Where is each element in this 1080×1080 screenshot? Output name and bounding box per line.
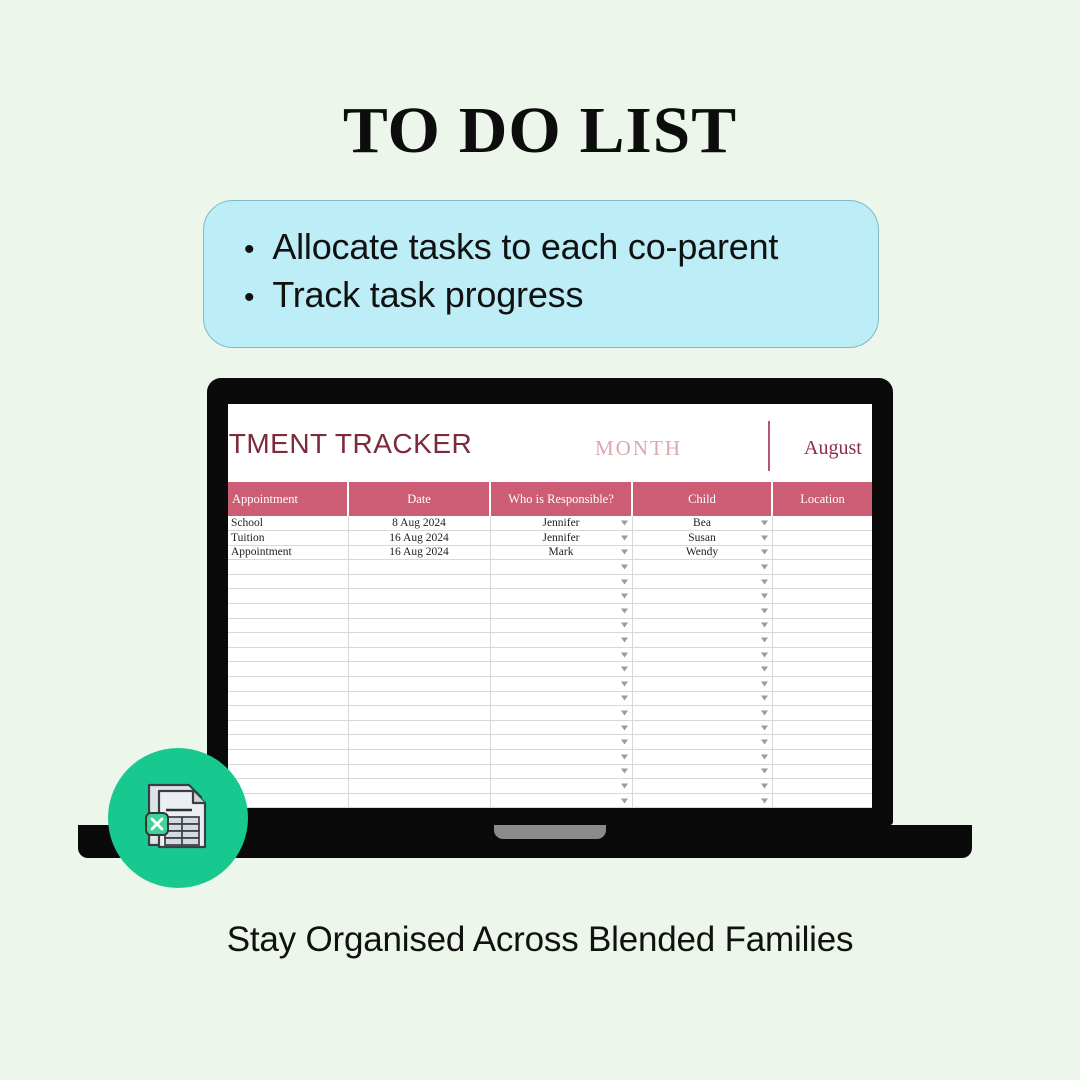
month-value[interactable]: August — [804, 437, 862, 460]
dropdown-caret-icon[interactable] — [761, 754, 768, 759]
table-row — [228, 604, 872, 619]
month-label: MONTH — [595, 436, 682, 461]
dropdown-caret-icon[interactable] — [761, 550, 768, 555]
cell-appointment[interactable] — [228, 574, 348, 589]
cell-date[interactable] — [348, 779, 490, 794]
cell-date[interactable]: 16 Aug 2024 — [348, 531, 490, 546]
cell-child[interactable]: Bea — [632, 516, 772, 531]
dropdown-caret-icon[interactable] — [621, 594, 628, 599]
cell-responsible[interactable]: Jennifer — [490, 531, 632, 546]
cell-child[interactable] — [632, 662, 772, 677]
spreadsheet-badge — [108, 748, 248, 888]
cell-child[interactable] — [632, 574, 772, 589]
dropdown-caret-icon[interactable] — [621, 638, 628, 643]
cell-appointment[interactable] — [228, 560, 348, 575]
cell-location[interactable] — [772, 793, 872, 808]
cell-appointment[interactable] — [228, 691, 348, 706]
dropdown-caret-icon[interactable] — [621, 696, 628, 701]
dropdown-caret-icon[interactable] — [621, 681, 628, 686]
cell-date[interactable] — [348, 764, 490, 779]
table-row — [228, 750, 872, 765]
cell-responsible[interactable] — [490, 750, 632, 765]
table-row — [228, 735, 872, 750]
list-item-label: Allocate tasks to each co-parent — [272, 223, 778, 271]
spreadsheet-title: NTMENT TRACKER — [228, 428, 472, 460]
cell-location[interactable] — [772, 589, 872, 604]
cell-date[interactable] — [348, 706, 490, 721]
cell-appointment[interactable] — [228, 735, 348, 750]
table-row — [228, 677, 872, 692]
spreadsheet: NTMENT TRACKER MONTH August Appointment … — [228, 404, 872, 808]
cell-responsible[interactable] — [490, 647, 632, 662]
cell-date[interactable] — [348, 720, 490, 735]
table-row — [228, 560, 872, 575]
table-row — [228, 764, 872, 779]
cell-appointment[interactable]: Appointment — [228, 545, 348, 560]
cell-responsible[interactable] — [490, 662, 632, 677]
cell-location[interactable] — [772, 574, 872, 589]
cell-date[interactable] — [348, 750, 490, 765]
dropdown-caret-icon[interactable] — [761, 696, 768, 701]
cell-date[interactable] — [348, 560, 490, 575]
bullet-icon: • — [244, 235, 254, 265]
table-row — [228, 647, 872, 662]
cell-appointment[interactable]: School — [228, 516, 348, 531]
cell-location[interactable] — [772, 706, 872, 721]
tagline: Stay Organised Across Blended Families — [0, 920, 1080, 960]
dropdown-caret-icon[interactable] — [761, 535, 768, 540]
table-header-row: Appointment Date Who is Responsible? Chi… — [228, 482, 872, 516]
dropdown-caret-icon[interactable] — [621, 754, 628, 759]
spreadsheet-header: NTMENT TRACKER MONTH August — [228, 404, 872, 482]
cell-date[interactable] — [348, 662, 490, 677]
cell-child[interactable] — [632, 750, 772, 765]
cell-date[interactable] — [348, 647, 490, 662]
cell-location[interactable] — [772, 779, 872, 794]
table-row — [228, 662, 872, 677]
column-header-responsible: Who is Responsible? — [490, 482, 632, 516]
dropdown-caret-icon[interactable] — [761, 652, 768, 657]
cell-location[interactable] — [772, 545, 872, 560]
column-header-child: Child — [632, 482, 772, 516]
cell-appointment[interactable] — [228, 764, 348, 779]
page-title: TO DO LIST — [0, 98, 1080, 164]
dropdown-caret-icon[interactable] — [621, 783, 628, 788]
cell-child[interactable] — [632, 691, 772, 706]
cell-responsible[interactable] — [490, 560, 632, 575]
cell-child[interactable] — [632, 677, 772, 692]
cell-child[interactable]: Wendy — [632, 545, 772, 560]
dropdown-caret-icon[interactable] — [621, 798, 628, 803]
feature-list: • Allocate tasks to each co-parent • Tra… — [244, 223, 878, 319]
dropdown-caret-icon[interactable] — [621, 725, 628, 730]
cell-appointment[interactable]: Tuition — [228, 531, 348, 546]
cell-location[interactable] — [772, 633, 872, 648]
dropdown-caret-icon[interactable] — [621, 579, 628, 584]
cell-child[interactable] — [632, 560, 772, 575]
cell-location[interactable] — [772, 516, 872, 531]
cell-location[interactable] — [772, 618, 872, 633]
table-body: School8 Aug 2024JenniferBeaTuition16 Aug… — [228, 516, 872, 808]
cell-child[interactable] — [632, 647, 772, 662]
feature-callout-box: • Allocate tasks to each co-parent • Tra… — [203, 200, 879, 348]
dropdown-caret-icon[interactable] — [621, 769, 628, 774]
cell-date[interactable] — [348, 589, 490, 604]
cell-location[interactable] — [772, 720, 872, 735]
cell-responsible[interactable] — [490, 677, 632, 692]
dropdown-caret-icon[interactable] — [621, 608, 628, 613]
dropdown-caret-icon[interactable] — [621, 565, 628, 570]
cell-location[interactable] — [772, 764, 872, 779]
cell-responsible[interactable] — [490, 706, 632, 721]
table-row — [228, 574, 872, 589]
table-row: School8 Aug 2024JenniferBea — [228, 516, 872, 531]
cell-responsible[interactable] — [490, 779, 632, 794]
list-item-label: Track task progress — [272, 271, 583, 319]
column-header-location: Location — [772, 482, 872, 516]
dropdown-caret-icon[interactable] — [761, 725, 768, 730]
dropdown-caret-icon[interactable] — [621, 623, 628, 628]
cell-date[interactable] — [348, 574, 490, 589]
dropdown-caret-icon[interactable] — [761, 638, 768, 643]
cell-date[interactable] — [348, 604, 490, 619]
table-row — [228, 706, 872, 721]
cell-child[interactable] — [632, 618, 772, 633]
dropdown-caret-icon[interactable] — [621, 535, 628, 540]
table-row — [228, 793, 872, 808]
dropdown-caret-icon[interactable] — [621, 711, 628, 716]
appointment-table: Appointment Date Who is Responsible? Chi… — [228, 482, 872, 808]
table-row — [228, 633, 872, 648]
dropdown-caret-icon[interactable] — [621, 550, 628, 555]
cell-child[interactable]: Susan — [632, 531, 772, 546]
dropdown-caret-icon[interactable] — [761, 798, 768, 803]
cell-child[interactable] — [632, 793, 772, 808]
cell-location[interactable] — [772, 677, 872, 692]
cell-location[interactable] — [772, 560, 872, 575]
cell-appointment[interactable] — [228, 589, 348, 604]
cell-child[interactable] — [632, 633, 772, 648]
dropdown-caret-icon[interactable] — [761, 711, 768, 716]
cell-responsible[interactable]: Jennifer — [490, 516, 632, 531]
dropdown-caret-icon[interactable] — [761, 608, 768, 613]
dropdown-caret-icon[interactable] — [761, 783, 768, 788]
cell-child[interactable] — [632, 604, 772, 619]
cell-responsible[interactable] — [490, 574, 632, 589]
cell-responsible[interactable] — [490, 604, 632, 619]
cell-appointment[interactable] — [228, 662, 348, 677]
table-row — [228, 720, 872, 735]
cell-appointment[interactable] — [228, 779, 348, 794]
cell-date[interactable] — [348, 735, 490, 750]
laptop-hinge-notch — [494, 825, 606, 839]
cell-appointment[interactable] — [228, 633, 348, 648]
cell-date[interactable] — [348, 793, 490, 808]
dropdown-caret-icon[interactable] — [621, 652, 628, 657]
cell-child[interactable] — [632, 720, 772, 735]
cell-appointment[interactable] — [228, 677, 348, 692]
dropdown-caret-icon[interactable] — [761, 769, 768, 774]
list-item: • Allocate tasks to each co-parent — [244, 223, 878, 271]
cell-responsible[interactable] — [490, 764, 632, 779]
cell-location[interactable] — [772, 750, 872, 765]
cell-date[interactable]: 8 Aug 2024 — [348, 516, 490, 531]
dropdown-caret-icon[interactable] — [621, 740, 628, 745]
dropdown-caret-icon[interactable] — [761, 623, 768, 628]
dropdown-caret-icon[interactable] — [621, 667, 628, 672]
cell-date[interactable] — [348, 633, 490, 648]
cell-responsible[interactable] — [490, 618, 632, 633]
dropdown-caret-icon[interactable] — [761, 667, 768, 672]
cell-date[interactable] — [348, 618, 490, 633]
cell-responsible[interactable]: Mark — [490, 545, 632, 560]
dropdown-caret-icon[interactable] — [621, 521, 628, 526]
dropdown-caret-icon[interactable] — [761, 740, 768, 745]
cell-location[interactable] — [772, 691, 872, 706]
cell-appointment[interactable] — [228, 706, 348, 721]
dropdown-caret-icon[interactable] — [761, 681, 768, 686]
table-row — [228, 589, 872, 604]
cell-responsible[interactable] — [490, 633, 632, 648]
table-row: Appointment16 Aug 2024MarkWendy — [228, 545, 872, 560]
cell-date[interactable]: 16 Aug 2024 — [348, 545, 490, 560]
cell-responsible[interactable] — [490, 735, 632, 750]
laptop-screen: NTMENT TRACKER MONTH August Appointment … — [228, 404, 872, 808]
cell-date[interactable] — [348, 691, 490, 706]
cell-appointment[interactable] — [228, 647, 348, 662]
cell-location[interactable] — [772, 604, 872, 619]
dropdown-caret-icon[interactable] — [761, 579, 768, 584]
table-row: Tuition16 Aug 2024JenniferSusan — [228, 531, 872, 546]
cell-appointment[interactable] — [228, 604, 348, 619]
table-row — [228, 691, 872, 706]
cell-date[interactable] — [348, 677, 490, 692]
table-row — [228, 779, 872, 794]
cell-child[interactable] — [632, 735, 772, 750]
cell-location[interactable] — [772, 531, 872, 546]
cell-appointment[interactable] — [228, 720, 348, 735]
cell-appointment[interactable] — [228, 750, 348, 765]
cell-location[interactable] — [772, 735, 872, 750]
dropdown-caret-icon[interactable] — [761, 565, 768, 570]
cell-location[interactable] — [772, 647, 872, 662]
dropdown-caret-icon[interactable] — [761, 521, 768, 526]
cell-responsible[interactable] — [490, 691, 632, 706]
cell-child[interactable] — [632, 706, 772, 721]
list-item: • Track task progress — [244, 271, 878, 319]
cell-location[interactable] — [772, 662, 872, 677]
cell-responsible[interactable] — [490, 589, 632, 604]
cell-appointment[interactable] — [228, 618, 348, 633]
column-header-date: Date — [348, 482, 490, 516]
bullet-icon: • — [244, 283, 254, 313]
cell-child[interactable] — [632, 764, 772, 779]
dropdown-caret-icon[interactable] — [761, 594, 768, 599]
cell-responsible[interactable] — [490, 720, 632, 735]
header-divider — [768, 421, 770, 471]
cell-child[interactable] — [632, 779, 772, 794]
column-header-appointment: Appointment — [228, 482, 348, 516]
cell-child[interactable] — [632, 589, 772, 604]
spreadsheet-document-icon — [135, 773, 221, 864]
table-row — [228, 618, 872, 633]
cell-responsible[interactable] — [490, 793, 632, 808]
